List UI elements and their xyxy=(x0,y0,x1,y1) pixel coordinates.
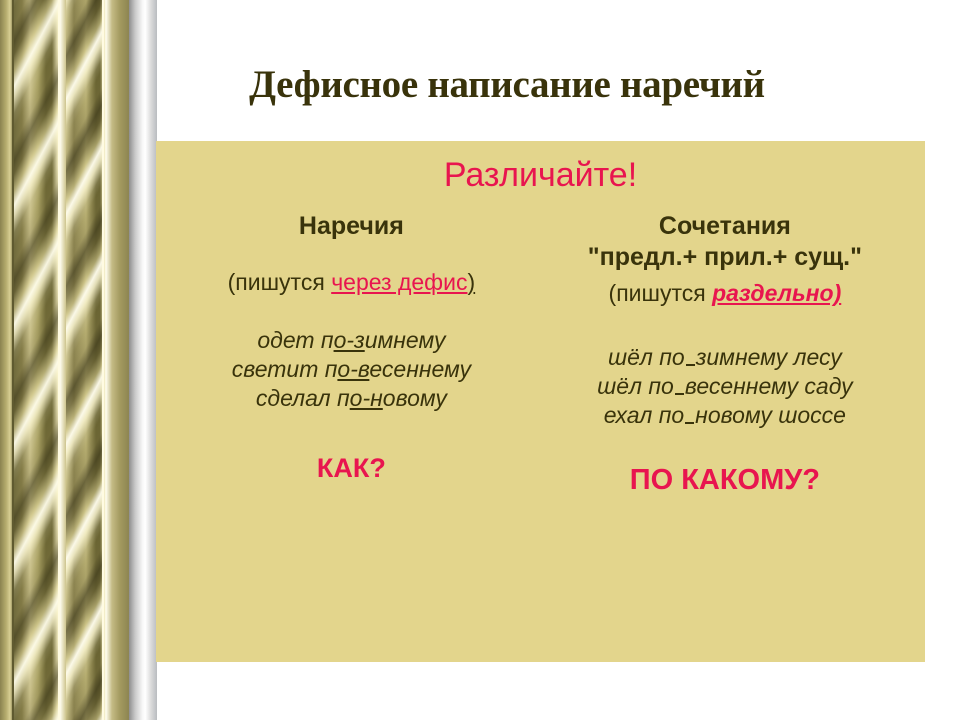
comparison-columns: Наречия (пишутся через дефис) одет по-зи… xyxy=(156,211,925,497)
decorative-rope-border xyxy=(0,0,129,720)
column-right-heading: Сочетания "предл.+ прил.+ сущ." xyxy=(543,211,907,273)
example-item: шёл повесеннему саду xyxy=(543,372,907,401)
example-text-before: сделал п xyxy=(256,385,350,411)
column-right-subheading: "предл.+ прил.+ сущ." xyxy=(543,242,907,273)
border-divider-3 xyxy=(102,0,104,720)
page-title: Дефисное написание наречий xyxy=(157,62,857,108)
word-gap-marker xyxy=(685,422,694,424)
word-gap-marker xyxy=(675,393,684,395)
column-left-question: КАК? xyxy=(180,453,523,484)
example-item: одет по-зимнему xyxy=(180,326,523,355)
example-text-underlined: о-в xyxy=(337,356,369,382)
example-text-before: одет п xyxy=(257,327,333,353)
column-right-heading-main: Сочетания xyxy=(659,212,791,240)
metallic-accent-strip xyxy=(129,0,157,720)
panel-heading: Различайте! xyxy=(156,155,925,195)
column-right-question: ПО КАКОМУ? xyxy=(543,464,907,497)
border-divider-1 xyxy=(12,0,14,720)
column-combinations: Сочетания "предл.+ прил.+ сущ." (пишутся… xyxy=(533,211,925,497)
example-text-after: зимнему лесу xyxy=(696,344,842,370)
example-item: светит по-весеннему xyxy=(180,355,523,384)
rope-strand-left xyxy=(14,0,58,720)
example-text-before: шёл по xyxy=(597,373,674,399)
column-right-examples: шёл позимнему лесу шёл повесеннему саду … xyxy=(543,343,907,430)
word-gap-marker xyxy=(686,364,695,366)
example-text-before: шёл по xyxy=(608,344,685,370)
column-adverbs: Наречия (пишутся через дефис) одет по-зи… xyxy=(156,211,533,497)
example-text-after: весеннему саду xyxy=(685,373,853,399)
column-left-rule: (пишутся через дефис) xyxy=(180,268,523,296)
rule-accent: раздельно) xyxy=(712,280,841,306)
example-text-after: овому xyxy=(383,385,447,411)
column-right-rule: (пишутся раздельно) xyxy=(543,279,907,307)
example-text-after: имнему xyxy=(365,327,446,353)
example-text-after: новому шоссе xyxy=(695,402,846,428)
example-text-underlined: о-н xyxy=(350,385,383,411)
border-divider-2 xyxy=(58,0,60,720)
example-text-after: есеннему xyxy=(369,356,471,382)
rule-prefix: (пишутся xyxy=(228,269,332,295)
column-left-examples: одет по-зимнему светит по-весеннему сдел… xyxy=(180,326,523,413)
rule-suffix: ) xyxy=(467,269,475,295)
rule-prefix: (пишутся xyxy=(609,280,713,306)
rule-accent: через дефис xyxy=(331,269,467,295)
content-panel: Различайте! Наречия (пишутся через дефис… xyxy=(156,141,925,662)
example-item: сделал по-новому xyxy=(180,384,523,413)
example-text-before: ехал по xyxy=(604,402,684,428)
example-text-before: светит п xyxy=(232,356,338,382)
rope-strand-right xyxy=(66,0,102,720)
column-left-heading: Наречия xyxy=(180,211,523,242)
example-item: шёл позимнему лесу xyxy=(543,343,907,372)
example-text-underlined: о-з xyxy=(334,327,365,353)
example-item: ехал поновому шоссе xyxy=(543,401,907,430)
slide-canvas: Дефисное написание наречий Различайте! Н… xyxy=(0,0,960,720)
